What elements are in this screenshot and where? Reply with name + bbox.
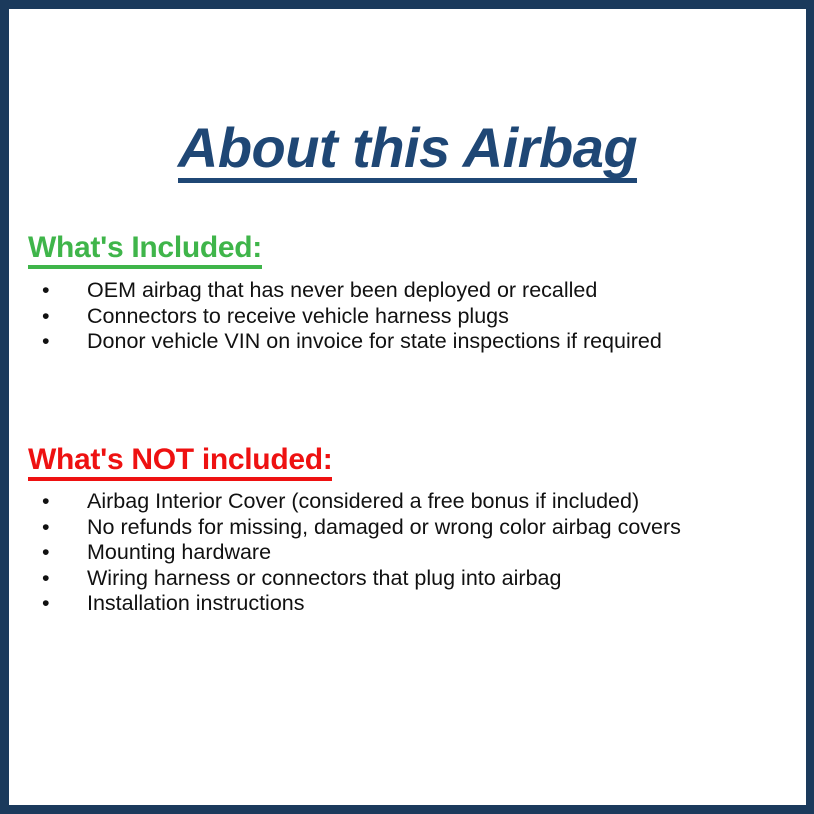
section-heading-not-included-text: What's NOT included: [28, 443, 332, 481]
list-item-label: Installation instructions [87, 591, 305, 615]
list-item-label: OEM airbag that has never been deployed … [87, 278, 597, 302]
list-item-label: Connectors to receive vehicle harness pl… [87, 304, 509, 328]
card-border-right [806, 0, 814, 814]
list-item: •Installation instructions [28, 591, 796, 617]
bullet-point-icon: • [42, 540, 50, 566]
section-heading-included: What's Included: [28, 231, 262, 269]
card-border-left [0, 0, 9, 814]
list-item: •Connectors to receive vehicle harness p… [28, 304, 796, 330]
section-whats-not-included: What's NOT included: •Airbag Interior Co… [28, 443, 796, 617]
bullet-point-icon: • [42, 566, 50, 592]
list-item: •Mounting hardware [28, 540, 796, 566]
bullet-point-icon: • [42, 515, 50, 541]
list-item: •Airbag Interior Cover (considered a fre… [28, 489, 796, 515]
list-item: •OEM airbag that has never been deployed… [28, 278, 796, 304]
card-content-area: About this Airbag What's Included: •OEM … [9, 9, 806, 805]
section-whats-included: What's Included: •OEM airbag that has ne… [28, 231, 796, 355]
page-title: About this Airbag [9, 119, 806, 184]
list-item-label: Donor vehicle VIN on invoice for state i… [87, 329, 662, 353]
list-item-label: No refunds for missing, damaged or wrong… [87, 515, 681, 539]
card-border-bottom [0, 805, 814, 814]
list-item-label: Wiring harness or connectors that plug i… [87, 566, 561, 590]
page-title-text: About this Airbag [178, 119, 637, 184]
not-included-list: •Airbag Interior Cover (considered a fre… [28, 489, 796, 617]
list-item-label: Mounting hardware [87, 540, 271, 564]
section-heading-not-included: What's NOT included: [28, 443, 332, 481]
bullet-point-icon: • [42, 278, 50, 304]
list-item: •Wiring harness or connectors that plug … [28, 566, 796, 592]
section-heading-included-text: What's Included: [28, 231, 262, 269]
list-item: •No refunds for missing, damaged or wron… [28, 515, 796, 541]
card-border-top [0, 0, 814, 9]
about-this-airbag-card: About this Airbag What's Included: •OEM … [0, 0, 814, 814]
list-item-label: Airbag Interior Cover (considered a free… [87, 489, 639, 513]
bullet-point-icon: • [42, 489, 50, 515]
list-item: •Donor vehicle VIN on invoice for state … [28, 329, 796, 355]
bullet-point-icon: • [42, 329, 50, 355]
bullet-point-icon: • [42, 304, 50, 330]
bullet-point-icon: • [42, 591, 50, 617]
included-list: •OEM airbag that has never been deployed… [28, 278, 796, 355]
